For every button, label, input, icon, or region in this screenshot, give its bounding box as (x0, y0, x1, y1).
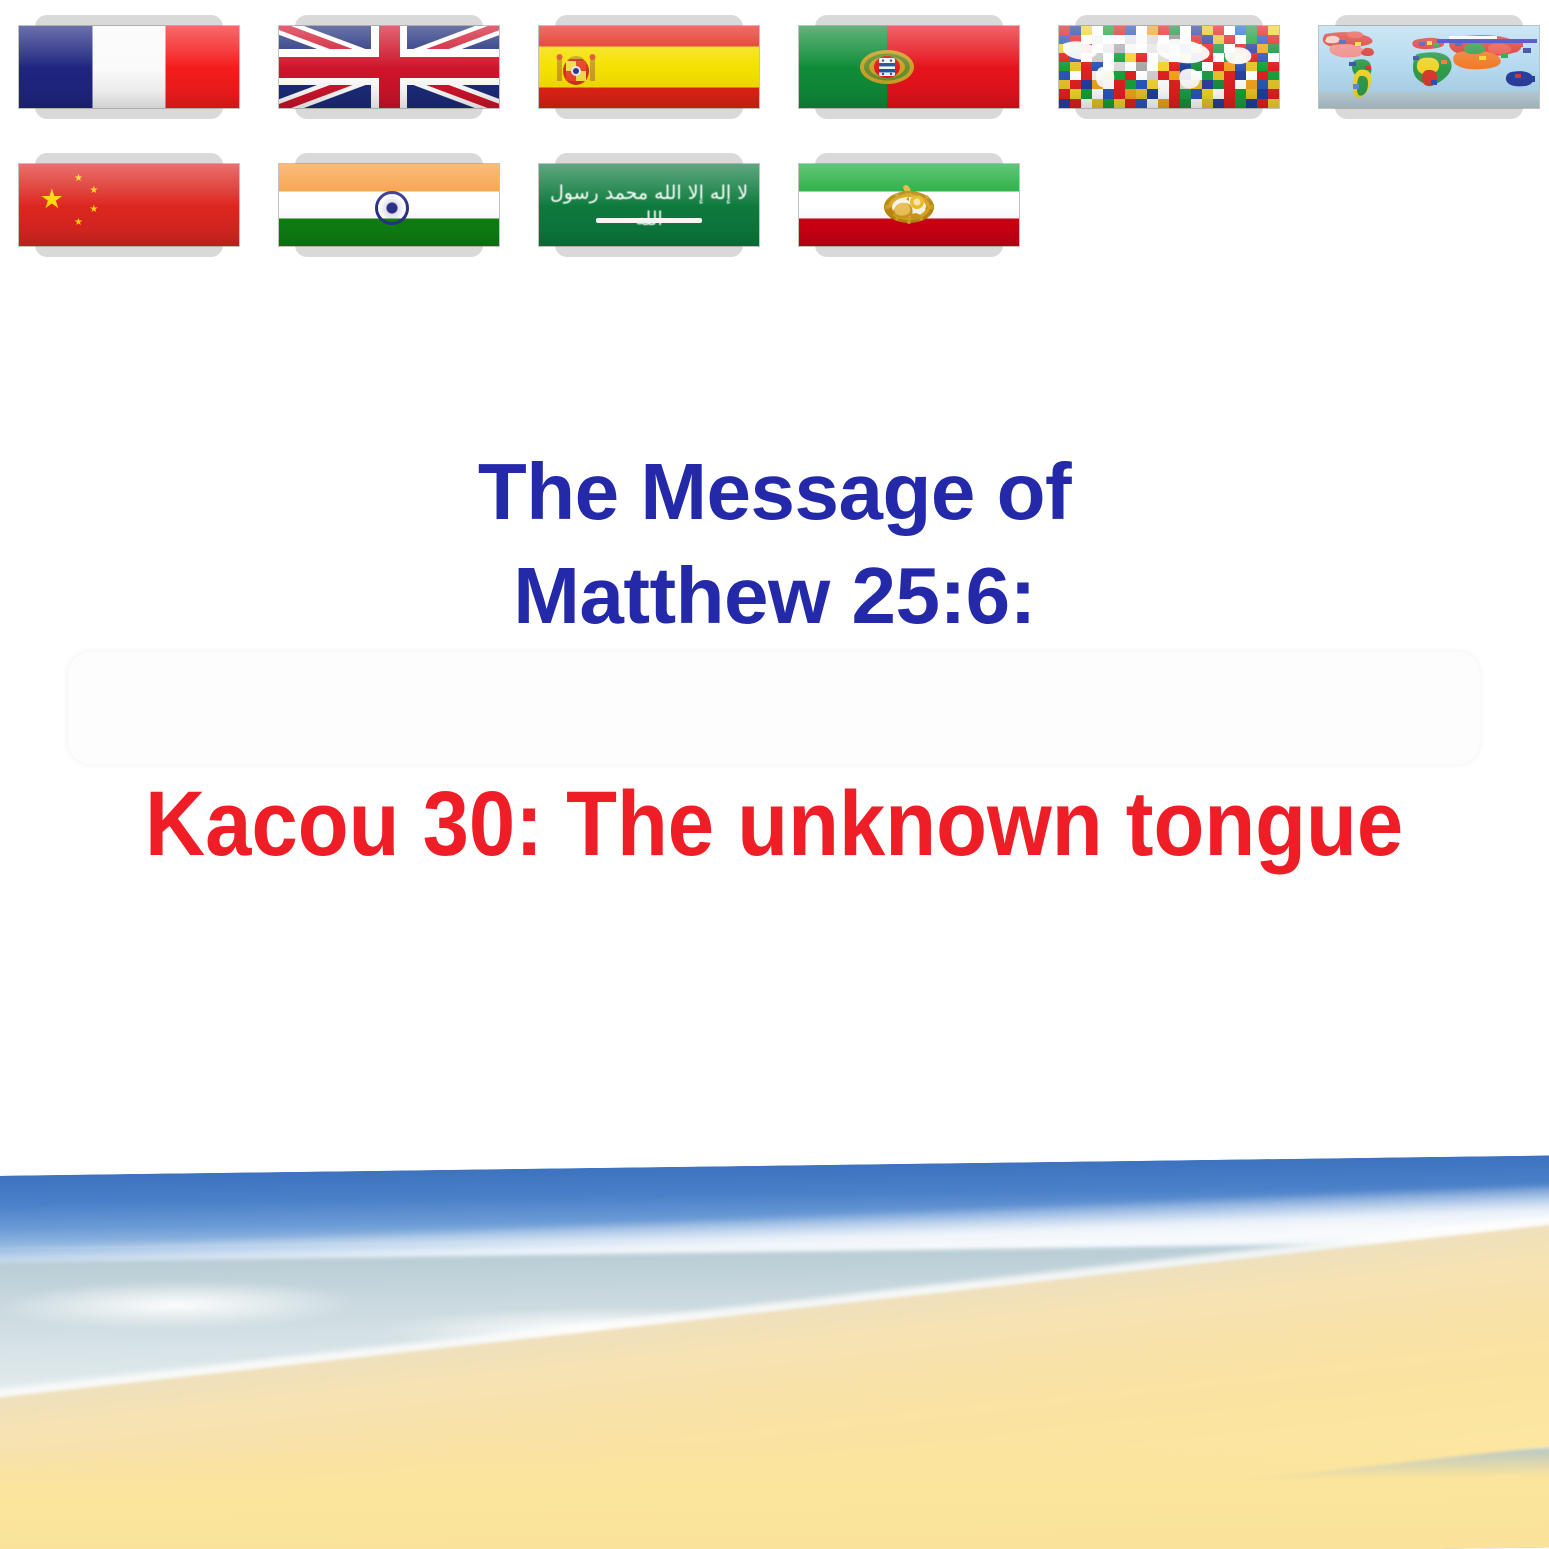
sand-foreground (0, 1429, 1549, 1549)
flag-france-icon[interactable] (19, 26, 239, 108)
map-continents (1319, 26, 1539, 108)
language-button-arabic[interactable]: لا إله إلا الله محمد رسول الله (520, 138, 760, 278)
world-map-flags-icon[interactable] (1319, 26, 1539, 108)
language-button-spanish[interactable] (520, 0, 760, 140)
language-button-chinese[interactable]: ★ ★ ★ ★ ★ (0, 138, 240, 278)
china-small-star: ★ (74, 174, 83, 183)
spain-coat-of-arms-icon (555, 51, 597, 91)
title-line-2: Matthew 25:6: (0, 544, 1549, 648)
flag-row-2: ★ ★ ★ ★ ★ لا إله إلا الله محمد رسول الله (0, 138, 1549, 278)
language-button-all-languages[interactable] (1040, 0, 1280, 140)
beach-shoreline-photo (0, 1155, 1549, 1549)
language-button-french[interactable] (0, 0, 240, 140)
shahada-inscription: لا إله إلا الله محمد رسول الله (539, 180, 759, 206)
subtitle-text: Kacou 30: The unknown tongue (145, 772, 1403, 876)
language-button-world-map[interactable] (1300, 0, 1540, 140)
china-small-star: ★ (89, 205, 98, 214)
world-flags-collage-icon[interactable] (1059, 26, 1279, 108)
page-title: The Message of Matthew 25:6: (0, 440, 1549, 648)
title-line-1: The Message of (0, 440, 1549, 544)
ashoka-chakra-icon (375, 191, 409, 225)
language-button-portuguese[interactable] (780, 0, 1020, 140)
language-flag-grid: ★ ★ ★ ★ ★ لا إله إلا الله محمد رسول الله (0, 0, 1549, 290)
flag-saudi-arabia-icon[interactable]: لا إله إلا الله محمد رسول الله (539, 164, 759, 246)
china-large-star: ★ (39, 186, 65, 212)
union-jack-saltires (279, 26, 499, 108)
language-button-hindi[interactable] (260, 138, 500, 278)
portugal-armillary-sphere-icon (859, 44, 915, 90)
flag-row-1 (0, 0, 1549, 140)
flag-china-icon[interactable]: ★ ★ ★ ★ ★ (19, 164, 239, 246)
language-button-english[interactable] (260, 0, 500, 140)
china-small-star: ★ (89, 186, 98, 195)
flag-spain-icon[interactable] (539, 26, 759, 108)
language-button-persian[interactable] (780, 138, 1020, 278)
page-subtitle: Kacou 30: The unknown tongue (0, 772, 1549, 876)
flag-india-icon[interactable] (279, 164, 499, 246)
flag-portugal-icon[interactable] (799, 26, 1019, 108)
flag-united-kingdom-icon[interactable] (279, 26, 499, 108)
slide-canvas: ★ ★ ★ ★ ★ لا إله إلا الله محمد رسول الله (0, 0, 1549, 1549)
decorative-white-panel (68, 652, 1480, 764)
lion-and-sun-emblem-icon (881, 181, 937, 229)
sword-icon (596, 218, 702, 223)
china-small-star: ★ (74, 218, 83, 227)
flag-iran-icon[interactable] (799, 164, 1019, 246)
collage-tiles (1059, 26, 1279, 108)
